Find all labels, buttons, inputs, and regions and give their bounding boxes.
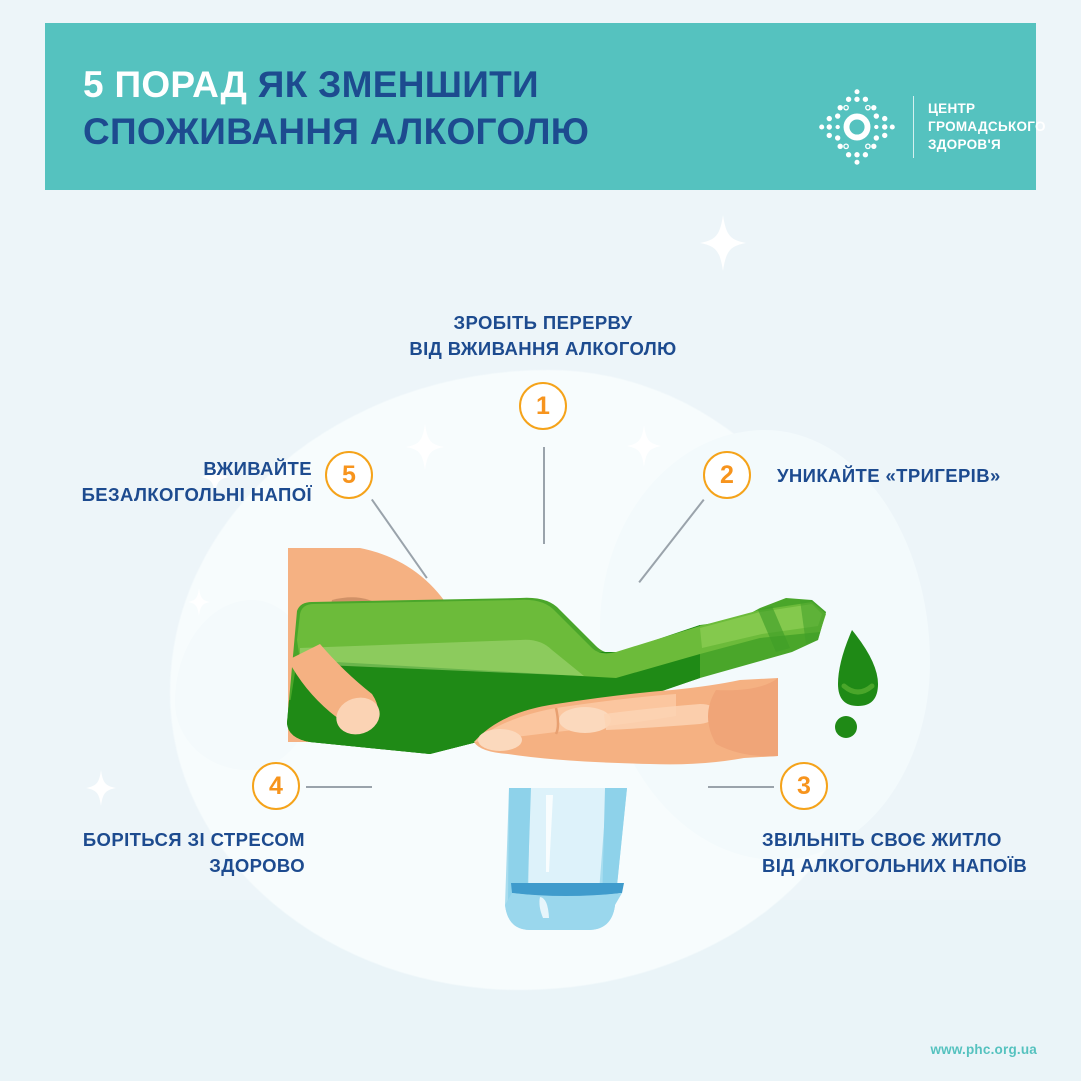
tip-label-4: БОРІТЬСЯ ЗІ СТРЕСОМ ЗДОРОВО	[20, 827, 305, 878]
tip-label-2: УНИКАЙТЕ «ТРИГЕРІВ»	[777, 463, 1047, 489]
connector-line-1	[543, 447, 545, 544]
infographic-canvas: 5 ПОРАД ЯК ЗМЕНШИТИСПОЖИВАННЯ АЛКОГОЛЮ	[0, 0, 1081, 1081]
tip-number-1[interactable]: 1	[519, 382, 567, 430]
tip-number-3[interactable]: 3	[780, 762, 828, 810]
connector-line-3	[708, 786, 774, 788]
tip-label-5: ВЖИВАЙТЕ БЕЗАЛКОГОЛЬНІ НАПОЇ	[30, 456, 312, 507]
tip-label-1: ЗРОБІТЬ ПЕРЕРВУ ВІД ВЖИВАННЯ АЛКОГОЛЮ	[393, 310, 693, 361]
alcohol-drip	[838, 630, 878, 706]
alcohol-droplet	[835, 716, 857, 738]
footer-url[interactable]: www.phc.org.ua	[930, 1042, 1037, 1057]
tip-number-4[interactable]: 4	[252, 762, 300, 810]
tip-number-2[interactable]: 2	[703, 451, 751, 499]
drinking-glass	[505, 788, 627, 930]
tip-label-3: ЗВІЛЬНІТЬ СВОЄ ЖИТЛО ВІД АЛКОГОЛЬНИХ НАП…	[762, 827, 1062, 878]
tip-number-5[interactable]: 5	[325, 451, 373, 499]
illustration	[0, 0, 1081, 1081]
connector-line-4	[306, 786, 372, 788]
